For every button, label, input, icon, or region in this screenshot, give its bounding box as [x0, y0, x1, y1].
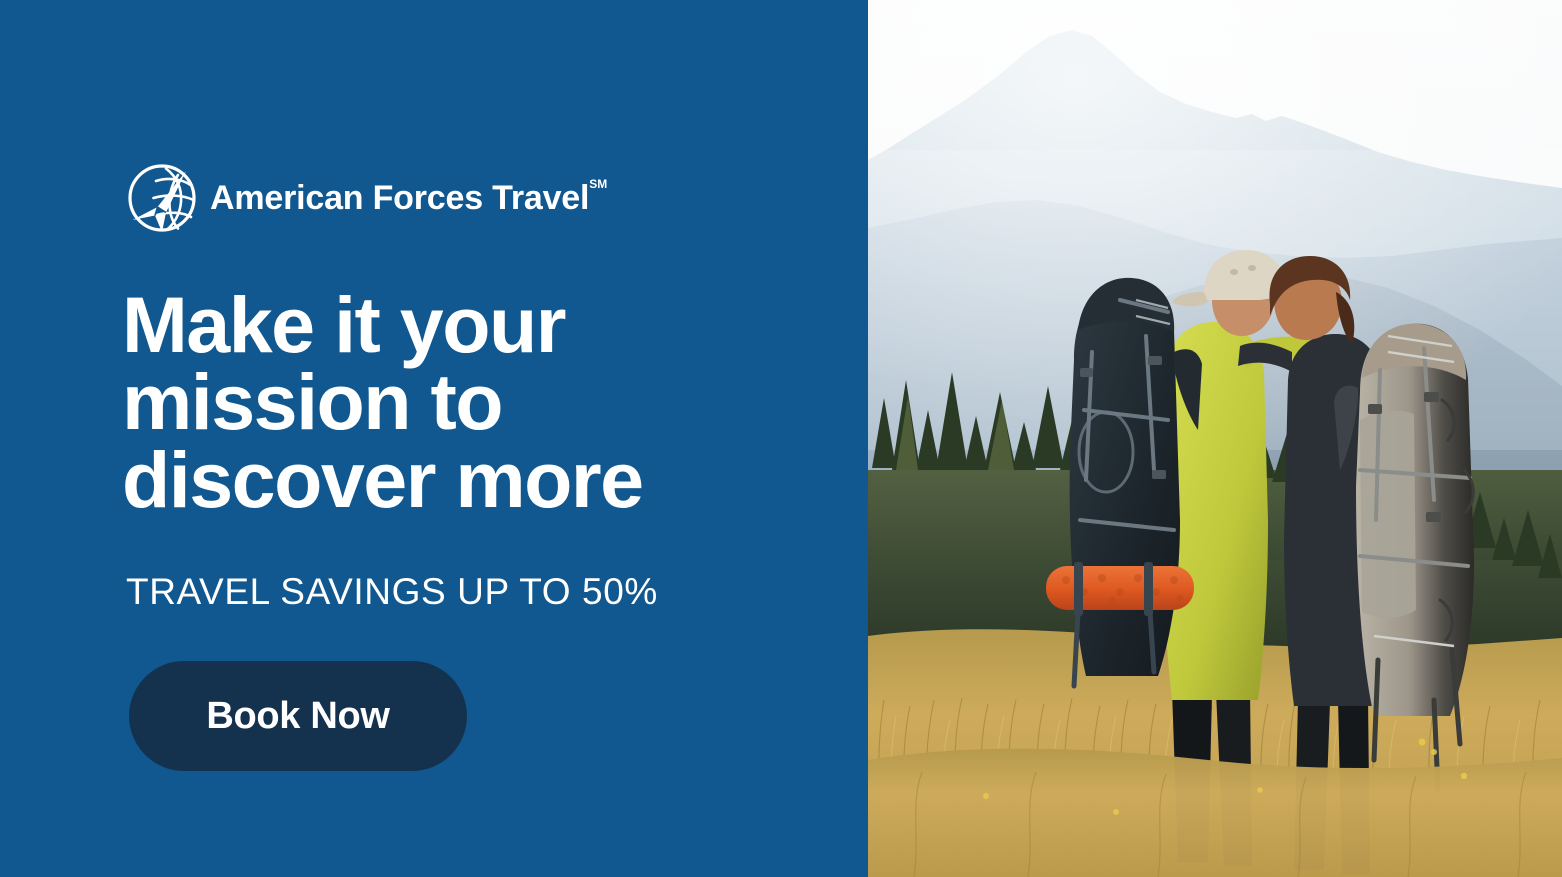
- brand-name-text: American Forces Travel: [210, 179, 589, 217]
- brand-wordmark: American Forces TravelSM: [210, 181, 607, 215]
- subheadline: TRAVEL SAVINGS UP TO 50%: [126, 570, 658, 614]
- content-block: American Forces TravelSM Make it your mi…: [126, 0, 826, 877]
- hero-photo: [868, 0, 1562, 877]
- headline-line-1: Make it your: [122, 286, 762, 363]
- book-now-button[interactable]: Book Now: [129, 661, 467, 771]
- headline-line-3: discover more: [122, 441, 762, 518]
- foreground-grass: [868, 749, 1562, 877]
- service-mark: SM: [589, 177, 607, 191]
- brand-logo[interactable]: American Forces TravelSM: [126, 162, 607, 234]
- headline: Make it your mission to discover more: [122, 286, 762, 518]
- left-content-panel: American Forces TravelSM Make it your mi…: [0, 0, 868, 877]
- sleeping-pad: [1046, 562, 1194, 616]
- promo-banner: American Forces TravelSM Make it your mi…: [0, 0, 1562, 877]
- globe-compass-icon: [126, 162, 198, 234]
- headline-line-2: mission to: [122, 363, 762, 440]
